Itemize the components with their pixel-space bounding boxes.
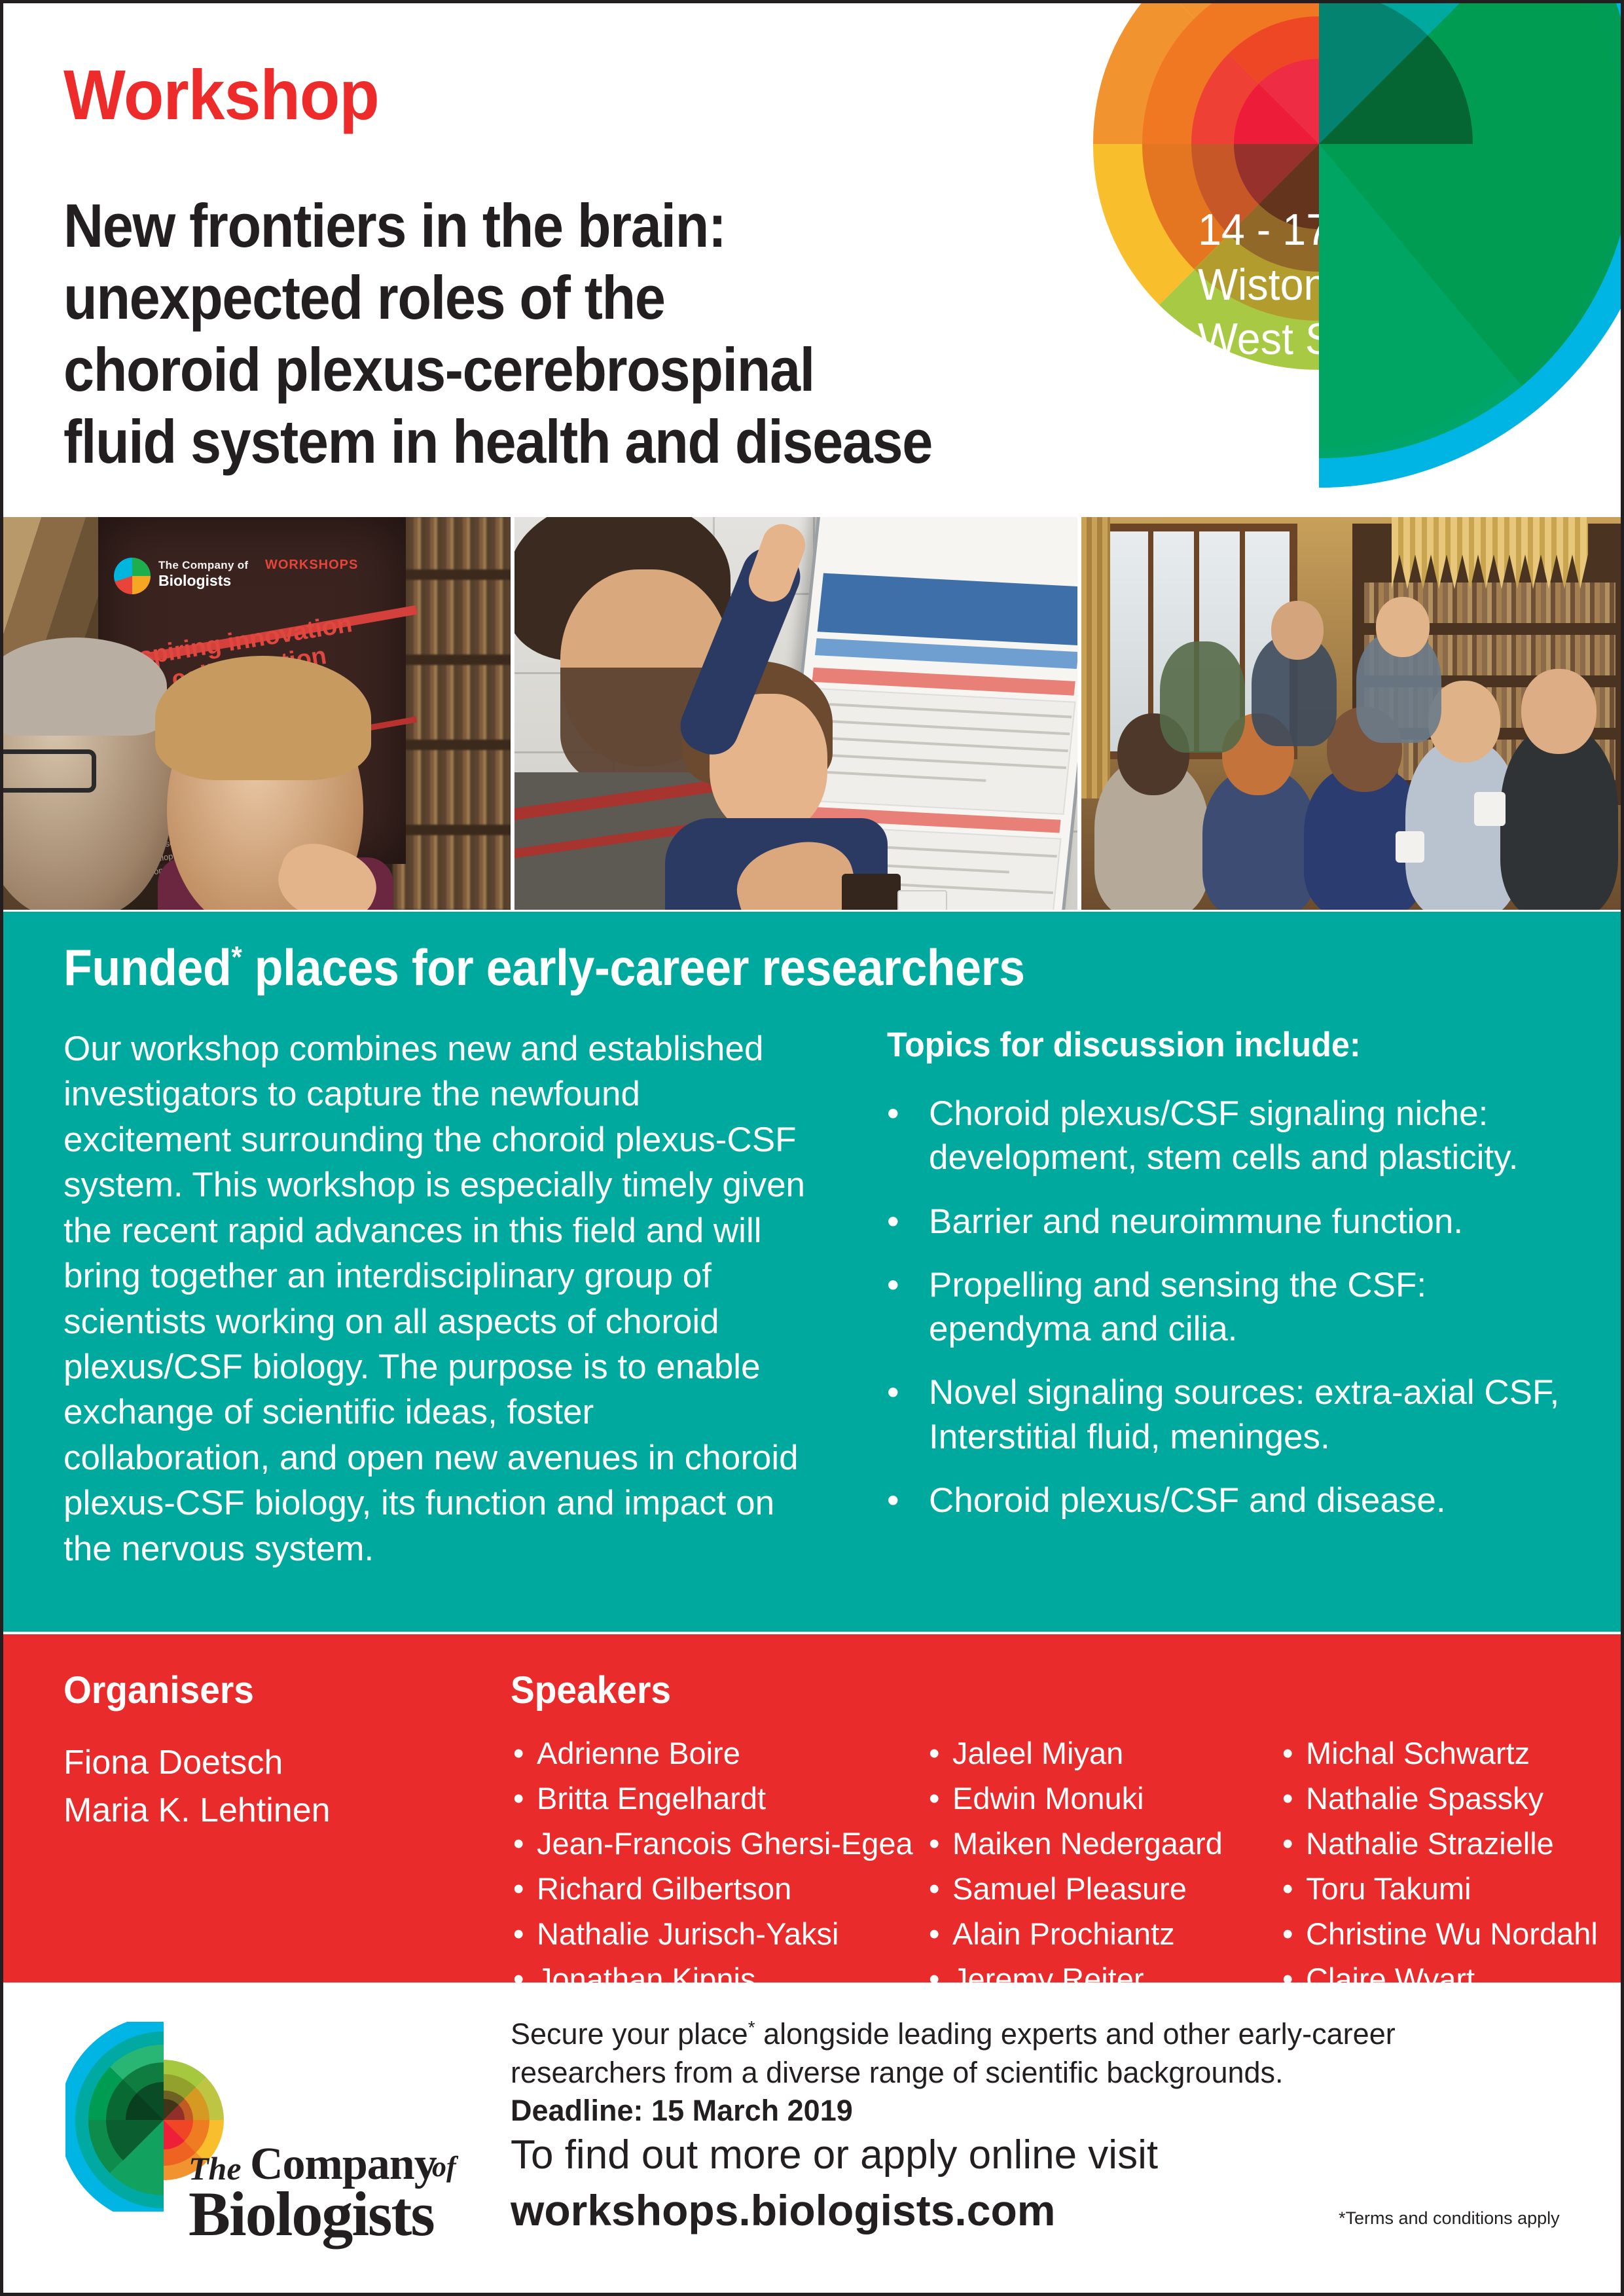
speaker-item: Nathalie Jurisch-Yaksi [511, 1918, 910, 1949]
footer-secure-line1: Secure your place [511, 2017, 748, 2051]
photo1-bookshelf [393, 517, 511, 910]
headline-line-4: fluid system in health and disease [63, 406, 1006, 478]
photo3-attendee-head [1521, 669, 1597, 754]
brand-word-biologists: Biologists [189, 2178, 434, 2250]
poster-page: Workshop New frontiers in the brain: une… [0, 0, 1624, 2296]
photo-poster-board-delegates: The Company of Biologists WORKSHOPS Insp… [3, 517, 511, 910]
organiser-item: Fiona Doetsch [63, 1739, 331, 1787]
organisers-heading: Organisers [63, 1668, 254, 1712]
funded-body-text: Our workshop combines new and establishe… [63, 1026, 806, 1571]
photo3-attendee [1500, 726, 1618, 910]
organiser-item: Maria K. Lehtinen [63, 1787, 331, 1835]
speaker-item: Adrienne Boire [511, 1738, 910, 1768]
footer-deadline: Deadline: 15 March 2019 [511, 2094, 853, 2127]
photo1-board-logo-icon [114, 558, 151, 594]
headline-line-3: choroid plexus-cerebrospinal [63, 334, 1006, 406]
footer-secure-line2: researchers from a diverse range of scie… [511, 2056, 1284, 2089]
photo3-attendee-head [1376, 597, 1430, 657]
headline-line-2: unexpected roles of the [63, 262, 1006, 334]
event-venue: Wiston House [1198, 258, 1596, 313]
speaker-item: Britta Engelhardt [511, 1783, 910, 1814]
event-region: West Sussex [1198, 312, 1596, 367]
photo-networking-crowd [1081, 517, 1624, 910]
photo3-attendee [1160, 641, 1245, 753]
funded-heading-word: Funded [63, 939, 231, 996]
event-country: UK [1198, 367, 1596, 422]
funded-heading-asterisk: * [231, 940, 242, 974]
speaker-item: Samuel Pleasure [926, 1873, 1280, 1904]
photo-poster-session [514, 517, 1077, 910]
topics-heading: Topics for discussion include: [887, 1025, 1361, 1065]
photo1-glasses-icon [3, 749, 96, 793]
event-dates: 14 - 17 July 2019 [1198, 203, 1596, 258]
speakers-column-3: Michal Schwartz Nathalie Spassky Nathali… [1280, 1738, 1624, 2009]
speakers-column-2: Jaleel Miyan Edwin Monuki Maiken Nederga… [926, 1738, 1280, 2009]
footer-secure-asterisk: * [748, 2017, 755, 2037]
speaker-item: Jaleel Miyan [926, 1738, 1280, 1768]
speaker-item: Richard Gilbertson [511, 1873, 910, 1904]
speakers-column-1: Adrienne Boire Britta Engelhardt Jean-Fr… [511, 1738, 910, 2009]
photo1-board-brand-biologists: Biologists [158, 572, 231, 590]
footer-find-out-more: To find out more or apply online visit [511, 2132, 1158, 2178]
footer-website-url[interactable]: workshops.biologists.com [511, 2185, 1055, 2235]
photo2-coffee-cup-white [897, 890, 947, 910]
speaker-item: Maiken Nedergaard [926, 1828, 1280, 1859]
organisers-list: Fiona Doetsch Maria K. Lehtinen [63, 1739, 331, 1835]
speaker-item: Michal Schwartz [1280, 1738, 1624, 1768]
topics-list: Choroid plexus/CSF signaling niche: deve… [887, 1092, 1581, 1542]
photo2-coffee-cup-dark [842, 874, 901, 910]
photo3-curtain [1081, 517, 1110, 798]
photo3-cup-held [1474, 792, 1506, 826]
photo1-board-brand-the: The Company of [158, 559, 248, 572]
topic-item: Choroid plexus/CSF and disease. [929, 1479, 1581, 1522]
photo3-cup-held [1396, 831, 1424, 863]
photo1-board-kicker: WORKSHOPS [265, 558, 358, 573]
event-details: 14 - 17 July 2019 Wiston House West Suss… [1198, 203, 1596, 422]
speaker-item: Jean-Francois Ghersi-Egea [511, 1828, 910, 1859]
footer-secure-line1b: alongside leading experts and other earl… [755, 2017, 1396, 2051]
photo3-attendee-head [1271, 601, 1324, 660]
speaker-item: Nathalie Spassky [1280, 1783, 1624, 1814]
poster-footer: The Company of Biologists Secure your pl… [3, 1982, 1624, 2296]
organisers-speakers-section: Organisers Fiona Doetsch Maria K. Lehtin… [3, 1634, 1624, 1982]
funded-places-section: Funded* places for early-career research… [3, 912, 1624, 1632]
speakers-heading: Speakers [511, 1668, 671, 1712]
funded-heading: Funded* places for early-career research… [63, 938, 1025, 997]
topic-item: Barrier and neuroimmune function. [929, 1200, 1581, 1244]
photo1-person-left [3, 641, 173, 910]
photo-strip: The Company of Biologists WORKSHOPS Insp… [3, 517, 1624, 910]
speaker-item: Toru Takumi [1280, 1873, 1624, 1904]
footer-secure-text: Secure your place* alongside leading exp… [511, 2015, 1460, 2130]
company-of-biologists-logo: The Company of Biologists [65, 2022, 458, 2238]
funded-heading-rest: places for early-career researchers [242, 939, 1024, 996]
poster-header: Workshop New frontiers in the brain: une… [3, 3, 1624, 517]
speaker-item: Christine Wu Nordahl [1280, 1918, 1624, 1949]
speaker-item: Nathalie Strazielle [1280, 1828, 1624, 1859]
headline-line-1: New frontiers in the brain: [63, 190, 1006, 262]
brand-word-of: of [432, 2150, 456, 2183]
footer-terms-note: *Terms and conditions apply [1339, 2208, 1560, 2229]
topic-item: Choroid plexus/CSF signaling niche: deve… [929, 1092, 1581, 1180]
speaker-item: Edwin Monuki [926, 1783, 1280, 1814]
speaker-item: Alain Prochiantz [926, 1918, 1280, 1949]
page-title: New frontiers in the brain: unexpected r… [63, 190, 1006, 478]
topic-item: Propelling and sensing the CSF: ependyma… [929, 1263, 1581, 1352]
page-kicker: Workshop [63, 60, 379, 130]
topic-item: Novel signaling sources: extra-axial CSF… [929, 1371, 1581, 1459]
